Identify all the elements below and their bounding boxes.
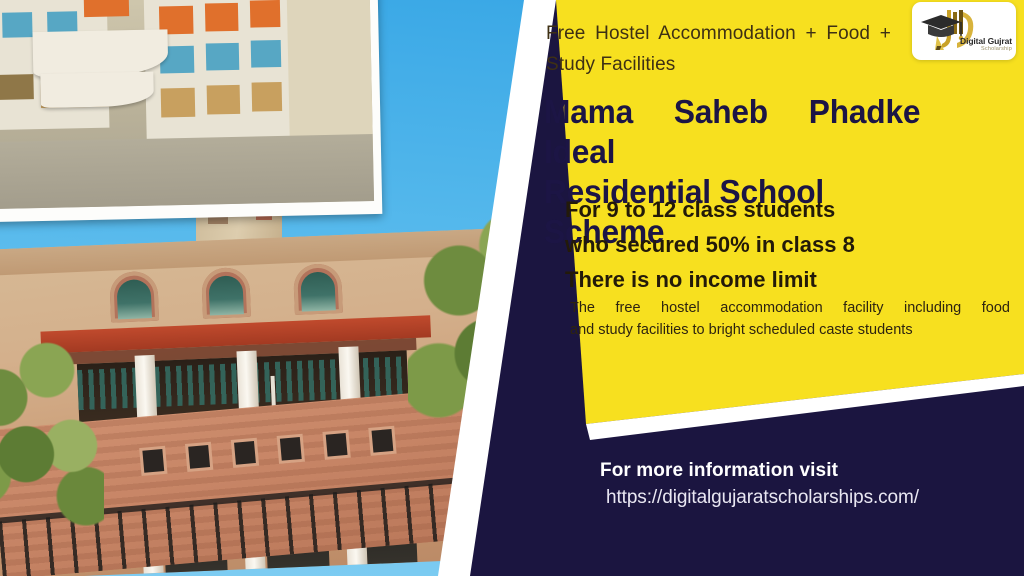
eyebrow-text: Free Hostel Accommodation + Food + Study… [546, 18, 891, 80]
website-url-link[interactable]: https://digitalgujaratscholarships.com/ [600, 484, 1020, 512]
logo-subtitle: Scholarship [960, 47, 1012, 53]
headline-line-1: Mama Saheb Phadke Ideal [544, 92, 920, 172]
eligibility-item: There is no income limit [565, 262, 985, 297]
promo-poster: Free Hostel Accommodation + Food + Study… [0, 0, 1024, 576]
eligibility-item: who secured 50% in class 8 [565, 227, 985, 262]
description-text: The free hostel accommodation facility i… [570, 297, 1010, 341]
call-to-action: For more information visit https://digit… [600, 458, 1020, 512]
description-line-2: and study facilities to bright scheduled… [570, 319, 1010, 341]
eligibility-list: For 9 to 12 class students who secured 5… [565, 192, 985, 297]
eligibility-item: For 9 to 12 class students [565, 192, 985, 227]
logo-brand: Digital Gujrat [960, 37, 1012, 46]
poster-content: Free Hostel Accommodation + Food + Study… [0, 0, 1024, 576]
logo-text: Digital Gujrat Scholarship [960, 37, 1012, 52]
description-line-1: The free hostel accommodation facility i… [570, 297, 1010, 319]
cta-title: For more information visit [600, 458, 1020, 484]
brand-logo[interactable]: Digital Gujrat Scholarship [912, 2, 1016, 60]
